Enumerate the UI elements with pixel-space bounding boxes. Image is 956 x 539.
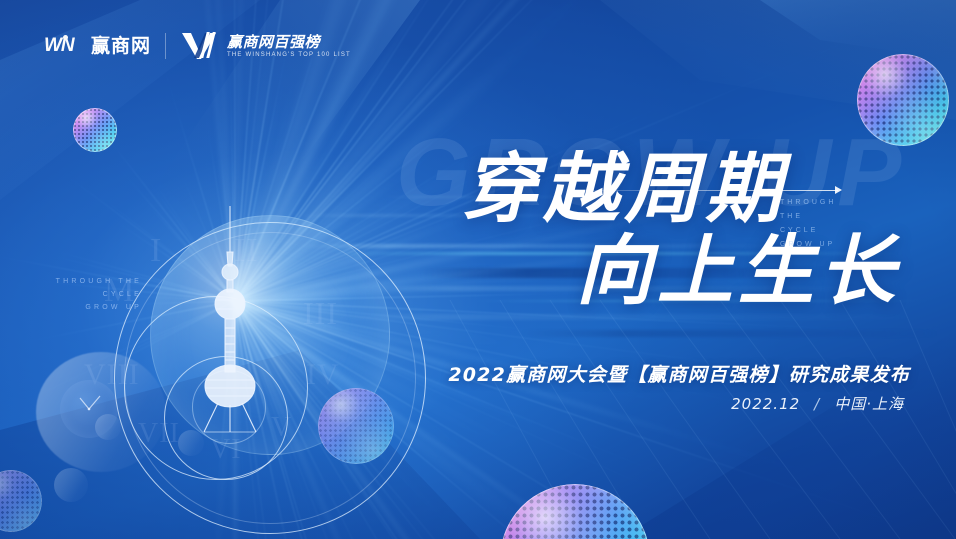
roman-numeral: III xyxy=(303,295,338,332)
light-ray xyxy=(234,300,612,494)
light-ray xyxy=(234,301,489,539)
light-ray xyxy=(234,300,516,539)
left-eyebrow-line3: GROW UP xyxy=(36,301,142,314)
event-subtitle: 2022赢商网大会暨【赢商网百强榜】研究成果发布 xyxy=(448,360,910,387)
light-ray xyxy=(235,300,706,493)
top100-text-group: 赢商网百强榜 THE WINSHANG'S TOP 100 LIST xyxy=(227,35,351,58)
light-ray xyxy=(234,300,526,539)
win-wordmark-text: WN xyxy=(44,35,74,56)
light-ray xyxy=(234,300,697,539)
light-ray xyxy=(234,20,294,301)
light-ray xyxy=(234,300,668,539)
light-ray xyxy=(13,300,235,398)
light-ray xyxy=(233,302,495,539)
light-streak xyxy=(520,330,940,337)
w-chevron-mark-icon xyxy=(180,31,218,61)
light-ray xyxy=(234,300,514,539)
left-eyebrow-line2: CYCLE xyxy=(36,288,142,301)
light-ray xyxy=(229,41,236,301)
light-ray xyxy=(233,48,294,304)
light-ray xyxy=(234,301,353,539)
light-ray xyxy=(215,104,236,302)
small-ring xyxy=(164,356,288,480)
dateline-separator: / xyxy=(814,395,820,413)
light-ray xyxy=(235,300,454,361)
light-ray xyxy=(232,301,603,539)
light-ray xyxy=(232,301,563,516)
left-eyebrow: THROUGH THE CYCLE GROW UP xyxy=(36,275,142,314)
light-ray xyxy=(213,301,236,524)
light-ray xyxy=(233,302,239,539)
roman-numeral: VII xyxy=(138,418,180,450)
light-ray xyxy=(234,301,373,539)
light-ray xyxy=(234,301,309,539)
right-eyebrow: THROUGH THE CYCLE GROW UP xyxy=(780,196,860,252)
light-ray xyxy=(234,300,571,539)
roman-numeral: V xyxy=(271,412,292,444)
light-ray xyxy=(234,301,314,539)
event-location: 中国·上海 xyxy=(834,393,904,414)
top100-subtitle-en: THE WINSHANG'S TOP 100 LIST xyxy=(227,52,351,58)
poster-canvas: II III IV V VI VII VIII M I xyxy=(0,0,956,539)
light-ray xyxy=(201,91,236,301)
title-rule-cap-icon xyxy=(835,186,842,194)
light-ray xyxy=(234,301,317,539)
light-ray xyxy=(234,300,704,414)
light-ray xyxy=(200,302,238,539)
winshang-logo[interactable]: WN 赢商网 xyxy=(44,36,151,56)
light-ray xyxy=(234,301,247,539)
silver-disc-small xyxy=(178,430,204,456)
light-ray xyxy=(234,300,497,520)
light-ray xyxy=(77,100,235,302)
roman-numeral: I xyxy=(150,232,162,270)
oriental-pearl-tower-icon xyxy=(150,200,310,440)
light-ray xyxy=(233,301,348,501)
light-ray xyxy=(234,300,452,531)
light-ray xyxy=(234,301,399,539)
light-ray xyxy=(234,301,395,539)
light-ray xyxy=(234,300,616,364)
win-wordmark-icon: WN xyxy=(44,36,84,56)
light-ray xyxy=(233,301,600,539)
title-rule xyxy=(588,190,838,191)
sphere-left-small xyxy=(73,108,117,152)
winshang-brand-cn: 赢商网 xyxy=(91,37,151,56)
light-ray xyxy=(167,142,236,301)
light-ray xyxy=(234,301,342,539)
light-ray xyxy=(234,301,272,539)
silver-disc-small xyxy=(54,468,88,502)
light-ray xyxy=(234,300,734,539)
light-ray xyxy=(234,300,567,539)
bottom-rays xyxy=(430,300,956,539)
win-dot-icon xyxy=(63,35,68,40)
logo-divider xyxy=(165,33,166,59)
right-eyebrow-line2: CYCLE xyxy=(780,224,860,238)
top100-title-cn: 赢商网百强榜 xyxy=(227,35,351,50)
light-ray xyxy=(158,50,236,301)
roman-numeral: IV xyxy=(306,358,340,392)
sphere-bottom-center xyxy=(500,484,650,539)
inner-ring xyxy=(124,296,308,480)
light-ray xyxy=(234,301,465,539)
light-ray xyxy=(233,301,236,539)
light-ray xyxy=(136,164,235,302)
light-ray xyxy=(233,31,310,303)
roman-numeral: II xyxy=(234,232,259,270)
light-ray xyxy=(234,300,584,492)
right-eyebrow-line1: THROUGH THE xyxy=(780,196,860,224)
left-eyebrow-line1: THROUGH THE xyxy=(36,275,142,288)
sphere-left-bottom-edge xyxy=(0,470,42,532)
event-date: 2022.12 xyxy=(731,395,800,413)
top100-logo[interactable]: 赢商网百强榜 THE WINSHANG'S TOP 100 LIST xyxy=(180,31,351,61)
logo-bar: WN 赢商网 赢商网百强榜 THE WINSHANG'S TOP 100 LIS… xyxy=(44,31,351,61)
light-ray xyxy=(228,31,236,301)
clock-hands xyxy=(60,380,118,438)
light-ray xyxy=(235,300,783,539)
light-ray xyxy=(233,28,347,304)
roman-numeral: VI xyxy=(210,434,242,466)
sphere-top-right xyxy=(857,54,949,146)
light-ray xyxy=(234,300,861,539)
light-ray xyxy=(233,301,531,539)
sphere-mid-right-edge xyxy=(318,388,394,464)
light-ray xyxy=(234,300,836,483)
event-dateline: 2022.12 / 中国·上海 xyxy=(731,393,904,414)
tiny-ring xyxy=(192,370,266,444)
light-ray xyxy=(235,300,956,539)
right-eyebrow-line3: GROW UP xyxy=(780,238,860,252)
